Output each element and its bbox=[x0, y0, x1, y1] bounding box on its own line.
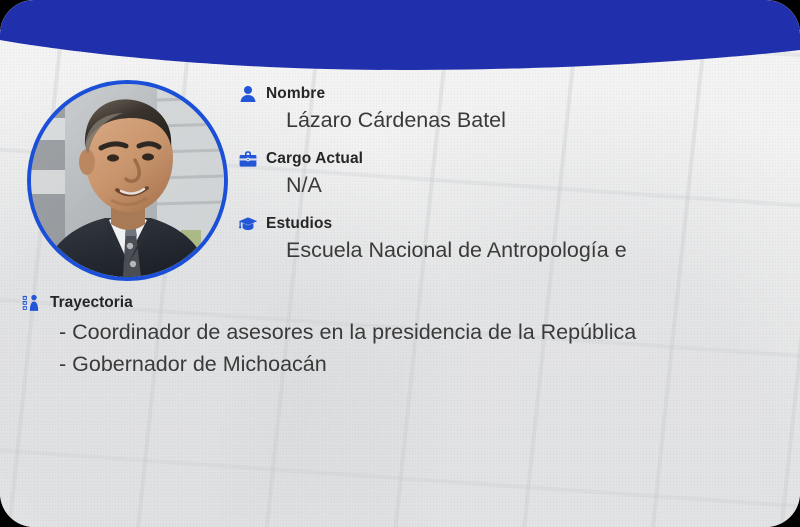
avatar bbox=[27, 80, 228, 281]
info-row-cargo-actual: Cargo Actual N/A bbox=[238, 149, 778, 200]
info-value-nombre: Lázaro Cárdenas Batel bbox=[286, 105, 778, 135]
graduation-cap-icon bbox=[238, 214, 258, 234]
info-value-estudios: Escuela Nacional de Antropología e bbox=[286, 235, 778, 265]
info-head-cargo-actual: Cargo Actual bbox=[238, 149, 778, 169]
info-list: Nombre Lázaro Cárdenas Batel Cargo Actua… bbox=[238, 84, 778, 279]
person-checklist-icon bbox=[22, 293, 42, 313]
info-row-nombre: Nombre Lázaro Cárdenas Batel bbox=[238, 84, 778, 135]
profile-card: Nombre Lázaro Cárdenas Batel Cargo Actua… bbox=[0, 0, 800, 527]
trajectory-item: - Gobernador de Michoacán bbox=[59, 348, 782, 380]
info-row-estudios: Estudios Escuela Nacional de Antropologí… bbox=[238, 214, 778, 265]
avatar-photo bbox=[31, 84, 224, 277]
trajectory-section: Trayectoria - Coordinador de asesores en… bbox=[22, 292, 782, 380]
trajectory-label: Trayectoria bbox=[50, 292, 133, 314]
info-label-estudios: Estudios bbox=[266, 214, 332, 234]
trajectory-head: Trayectoria bbox=[22, 292, 782, 314]
info-label-nombre: Nombre bbox=[266, 84, 325, 104]
info-label-cargo-actual: Cargo Actual bbox=[266, 149, 363, 169]
trajectory-items: - Coordinador de asesores en la presiden… bbox=[59, 316, 782, 380]
briefcase-icon bbox=[238, 149, 258, 169]
trajectory-item: - Coordinador de asesores en la presiden… bbox=[59, 316, 782, 348]
info-head-nombre: Nombre bbox=[238, 84, 778, 104]
person-icon bbox=[238, 84, 258, 104]
info-head-estudios: Estudios bbox=[238, 214, 778, 234]
info-value-cargo-actual: N/A bbox=[286, 170, 778, 200]
